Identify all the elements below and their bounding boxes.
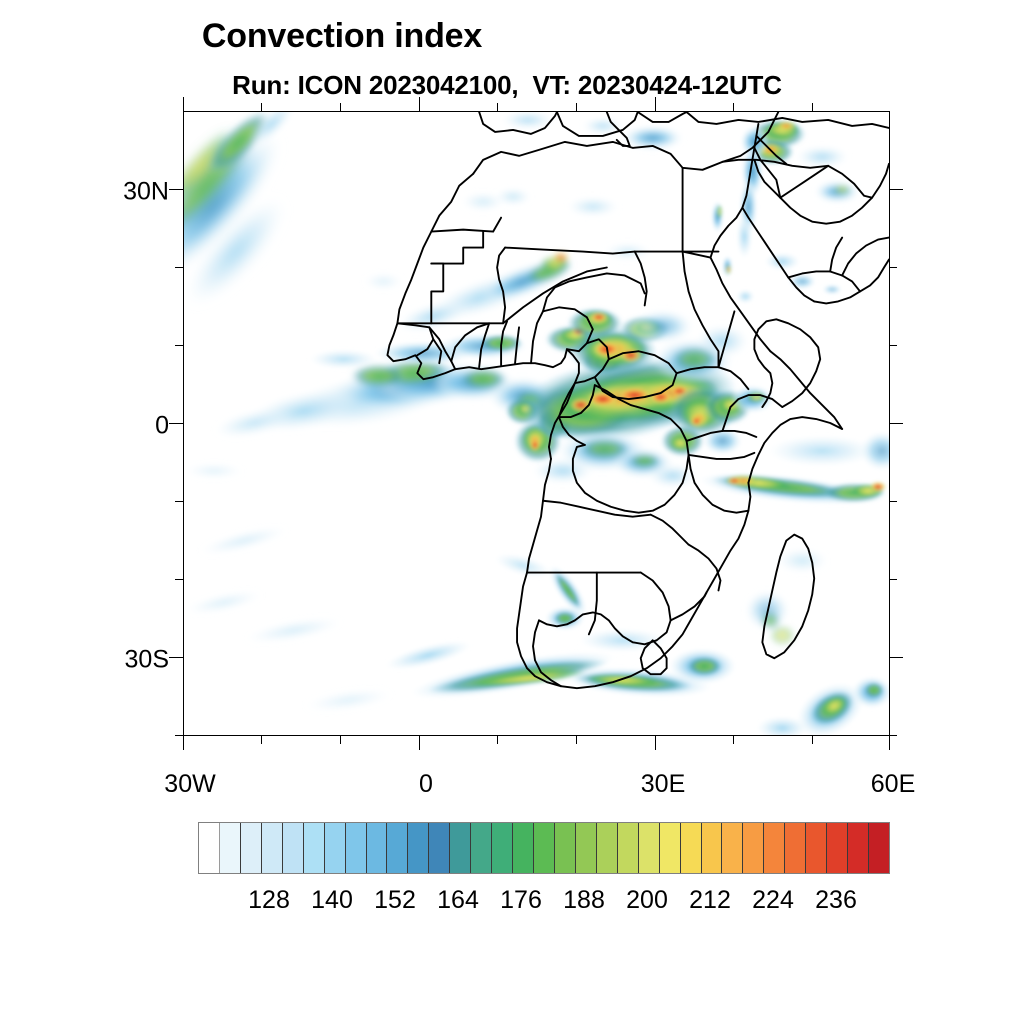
- yaxis-label-30n: 30N: [123, 178, 169, 207]
- colorbar-label: 212: [689, 886, 731, 915]
- colorbar-cell: [492, 823, 513, 873]
- xaxis-label-30e: 30E: [641, 770, 685, 799]
- colorbar-cell: [241, 823, 262, 873]
- ytick-minor: [175, 579, 183, 580]
- xtick-major: [889, 736, 890, 750]
- colorbar-label: 236: [815, 886, 857, 915]
- xtick-minor: [261, 736, 262, 744]
- yaxis-label-30s: 30S: [125, 646, 169, 675]
- colorbar-cell: [597, 823, 618, 873]
- xtick-minor: [497, 736, 498, 744]
- colorbar-cell: [681, 823, 702, 873]
- colorbar-cell: [660, 823, 681, 873]
- ytick-right-major: [889, 423, 903, 424]
- colorbar-cell: [618, 823, 639, 873]
- map-plot-area: [183, 111, 890, 736]
- colorbar-cell: [513, 823, 534, 873]
- ytick-minor: [175, 345, 183, 346]
- colorbar-label: 140: [311, 886, 353, 915]
- colorbar-cell: [387, 823, 408, 873]
- colorbar-cell: [555, 823, 576, 873]
- xtick-top-minor: [261, 103, 262, 111]
- xtick-top-major: [655, 97, 656, 111]
- colorbar-cell: [325, 823, 346, 873]
- ytick-right-major: [889, 189, 903, 190]
- colorbar-cell: [639, 823, 660, 873]
- colorbar-cell: [450, 823, 471, 873]
- xtick-top-minor: [497, 103, 498, 111]
- colorbar-cell: [199, 823, 220, 873]
- colorbar-label: 128: [248, 886, 290, 915]
- colorbar-cell: [283, 823, 304, 873]
- xtick-minor: [733, 736, 734, 744]
- colorbar-cell: [220, 823, 241, 873]
- ytick-right-minor: [889, 579, 897, 580]
- colorbar-cell: [869, 823, 889, 873]
- ytick-right-minor: [889, 501, 897, 502]
- colorbar-label: 152: [374, 886, 416, 915]
- convection-index-map: [184, 112, 889, 735]
- xaxis-label-30w: 30W: [164, 770, 215, 799]
- ytick-minor: [175, 267, 183, 268]
- colorbar-label: 176: [500, 886, 542, 915]
- colorbar-label: 188: [563, 886, 605, 915]
- colorbar-cell: [827, 823, 848, 873]
- ytick-minor: [175, 501, 183, 502]
- colorbar-cell: [471, 823, 492, 873]
- colorbar-cell: [785, 823, 806, 873]
- convection-index-chart: Convection index Run: ICON 2023042100, V…: [0, 0, 1024, 1024]
- colorbar-cell: [764, 823, 785, 873]
- ytick-right-minor: [889, 267, 897, 268]
- colorbar-cell: [262, 823, 283, 873]
- colorbar-cell: [702, 823, 723, 873]
- xtick-major: [655, 736, 656, 750]
- yaxis-label-0: 0: [155, 412, 169, 441]
- colorbar-cell: [304, 823, 325, 873]
- colorbar-cell: [534, 823, 555, 873]
- xtick-top-minor: [340, 103, 341, 111]
- xtick-minor: [812, 736, 813, 744]
- xaxis-label-0: 0: [419, 770, 433, 799]
- ytick-major: [169, 189, 183, 190]
- colorbar-cell: [848, 823, 869, 873]
- ytick-minor: [175, 735, 183, 736]
- ytick-right-minor: [889, 345, 897, 346]
- ytick-major: [169, 657, 183, 658]
- xtick-top-minor: [576, 103, 577, 111]
- colorbar-cell: [743, 823, 764, 873]
- colorbar-label: 200: [626, 886, 668, 915]
- colorbar-label: 224: [752, 886, 794, 915]
- xtick-top-minor: [812, 103, 813, 111]
- xtick-top-major: [183, 97, 184, 111]
- xtick-top-minor: [733, 103, 734, 111]
- colorbar-cell: [429, 823, 450, 873]
- colorbar-cell: [346, 823, 367, 873]
- xtick-minor: [340, 736, 341, 744]
- xtick-minor: [576, 736, 577, 744]
- ytick-major: [169, 423, 183, 424]
- page-title: Convection index: [0, 17, 1024, 56]
- xaxis-label-60e: 60E: [871, 770, 915, 799]
- colorbar-cell: [408, 823, 429, 873]
- chart-subtitle: Run: ICON 2023042100, VT: 20230424-12UTC: [0, 70, 1024, 101]
- xtick-top-major: [419, 97, 420, 111]
- colorbar-cell: [722, 823, 743, 873]
- xtick-major: [183, 736, 184, 750]
- xtick-major: [419, 736, 420, 750]
- colorbar-cell: [806, 823, 827, 873]
- colorbar-cell: [576, 823, 597, 873]
- colorbar-cell: [367, 823, 388, 873]
- colorbar: [198, 822, 890, 874]
- ytick-right-major: [889, 657, 903, 658]
- ytick-right-minor: [889, 735, 897, 736]
- colorbar-label: 164: [437, 886, 479, 915]
